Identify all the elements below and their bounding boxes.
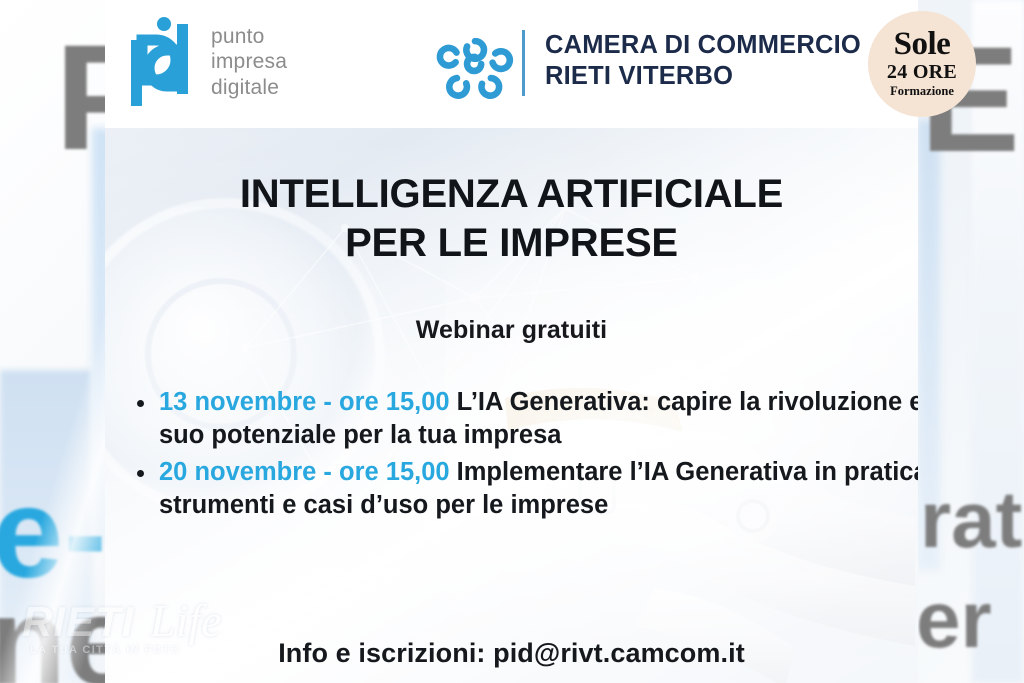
list-item: 20 novembre - ore 15,00 Implementare l’I… (159, 456, 918, 522)
event-separator: - (316, 388, 339, 416)
sole-logo-line-2: 24 ORE (887, 61, 957, 84)
pid-word-line-2: impresa (211, 49, 287, 75)
sole-logo-line-1: Sole (894, 29, 951, 60)
pid-word-line-1: punto (211, 24, 287, 50)
poster-screenshot: P E e - ne rat er (0, 0, 1024, 683)
camera-commercio-flower-icon (431, 20, 519, 108)
watermark-brand: RIETI (22, 598, 134, 646)
page-title: INTELLIGENZA ARTIFICIALE PER LE IMPRESE (105, 170, 918, 268)
pid-logo: punto impresa digitale (125, 12, 305, 112)
background-word-er: er (916, 580, 992, 660)
sole-24-ore-logo: Sole 24 ORE Formazione (868, 11, 976, 117)
event-separator: - (316, 458, 339, 486)
pid-word-line-3: digitale (211, 75, 287, 101)
header-divider (522, 30, 525, 96)
camera-commercio-wordmark: CAMERA DI COMMERCIO RIETI VITERBO (545, 30, 861, 92)
title-line-1: INTELLIGENZA ARTIFICIALE (105, 170, 918, 219)
watermark: RIETI Life LA TUA CITTÀ IN FOTO (22, 596, 252, 676)
event-time: ore 15,00 (339, 388, 450, 416)
watermark-tagline: LA TUA CITTÀ IN FOTO (30, 644, 180, 656)
poster-subtitle: Webinar gratuiti (105, 316, 918, 345)
event-date: 20 novembre (159, 458, 316, 486)
event-list: 13 novembre - ore 15,00 L’IA Generativa:… (127, 386, 918, 527)
sponsor-header-band: punto impresa digitale CAMERA DI COMMERC… (105, 0, 918, 128)
cciaa-line-1: CAMERA DI COMMERCIO (545, 30, 861, 61)
list-item: 13 novembre - ore 15,00 L’IA Generativa:… (159, 386, 918, 452)
title-line-2: PER LE IMPRESE (105, 219, 918, 268)
watermark-script: Life (150, 594, 222, 647)
event-date: 13 novembre (159, 388, 316, 416)
pid-monogram-icon (125, 14, 201, 110)
pid-logo-wordmark: punto impresa digitale (211, 24, 287, 101)
event-time: ore 15,00 (339, 458, 450, 486)
sole-logo-line-3: Formazione (890, 84, 954, 99)
background-word-rat: rat (920, 480, 1022, 560)
cciaa-line-2: RIETI VITERBO (545, 61, 861, 92)
